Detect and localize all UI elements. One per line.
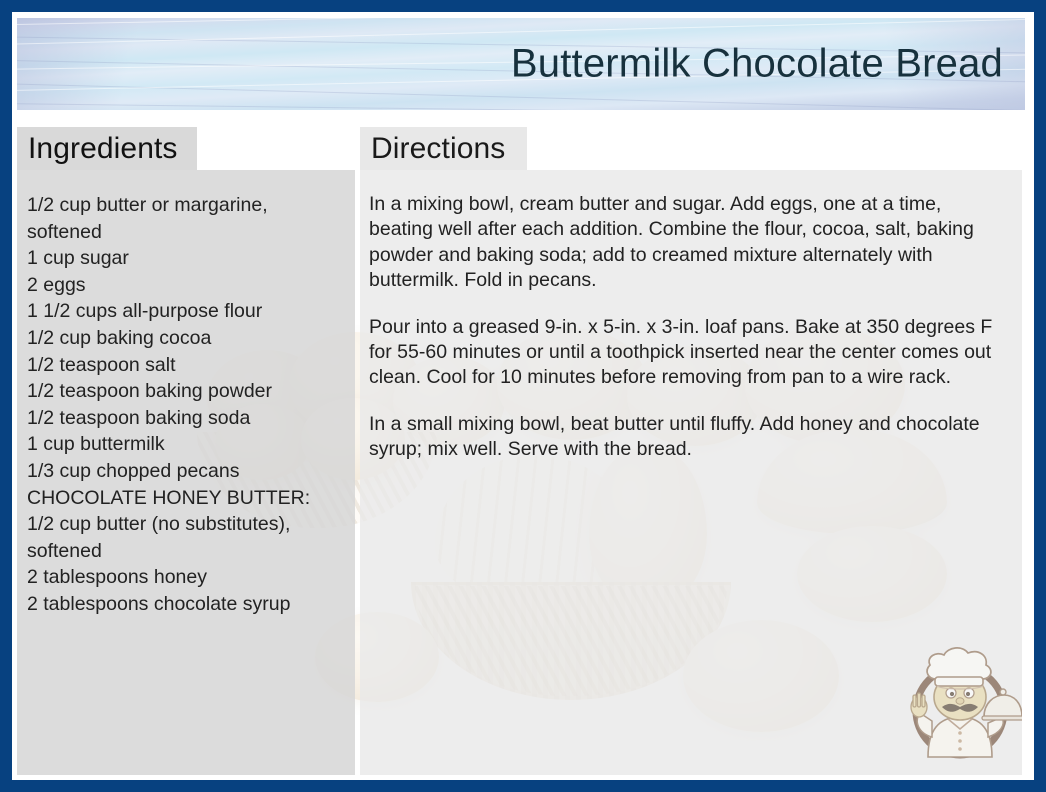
- list-item: 1/2 teaspoon salt: [27, 352, 343, 379]
- header-banner: Buttermilk Chocolate Bread: [17, 18, 1025, 110]
- list-item: 2 tablespoons chocolate syrup: [27, 591, 343, 618]
- directions-paragraph: Pour into a greased 9-in. x 5-in. x 3-in…: [369, 315, 1000, 391]
- list-item: 2 tablespoons honey: [27, 564, 343, 591]
- chef-mascot-logo: [898, 645, 1022, 769]
- ingredients-heading: Ingredients: [17, 132, 178, 166]
- directions-paragraph: In a mixing bowl, cream butter and sugar…: [369, 192, 1000, 294]
- list-item: 1 cup buttermilk: [27, 431, 343, 458]
- ingredients-list: 1/2 cup butter or margarine, softened 1 …: [17, 170, 355, 618]
- list-item: 1/2 cup butter (no substitutes), softene…: [27, 511, 343, 564]
- list-item: 1/2 teaspoon baking powder: [27, 378, 343, 405]
- list-item: 1 cup sugar: [27, 245, 343, 272]
- list-item: 1/3 cup chopped pecans: [27, 458, 343, 485]
- list-item: 1/2 cup butter or margarine, softened: [27, 192, 343, 245]
- directions-body: In a mixing bowl, cream butter and sugar…: [360, 170, 1022, 463]
- page-title: Buttermilk Chocolate Bread: [511, 42, 1003, 87]
- directions-paragraph: In a small mixing bowl, beat butter unti…: [369, 412, 1000, 463]
- serving-cloche-icon: [982, 689, 1022, 720]
- list-item: CHOCOLATE HONEY BUTTER:: [27, 485, 343, 512]
- list-item: 1/2 cup baking cocoa: [27, 325, 343, 352]
- list-item: 1/2 teaspoon baking soda: [27, 405, 343, 432]
- ingredients-heading-tab: Ingredients: [17, 127, 197, 170]
- list-item: 1 1/2 cups all-purpose flour: [27, 298, 343, 325]
- ingredients-panel: 1/2 cup butter or margarine, softened 1 …: [17, 170, 355, 775]
- directions-heading: Directions: [360, 132, 505, 166]
- list-item: 2 eggs: [27, 272, 343, 299]
- directions-heading-tab: Directions: [360, 127, 527, 170]
- recipe-card: Buttermilk Chocolate Bread: [0, 0, 1046, 792]
